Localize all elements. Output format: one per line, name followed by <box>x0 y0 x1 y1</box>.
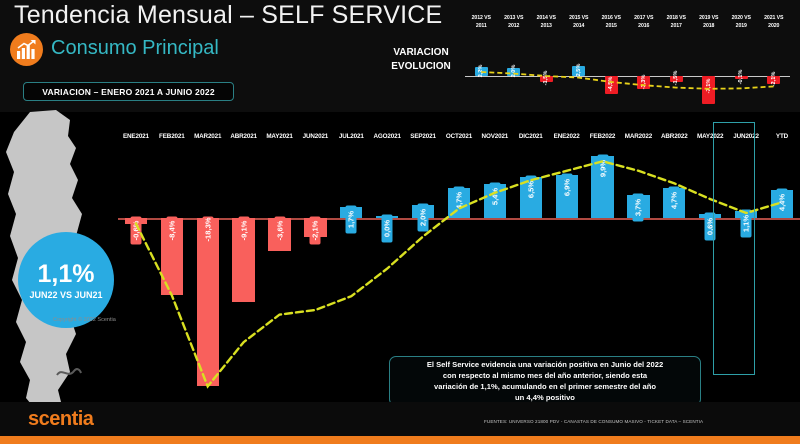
year-pair-label: 2021 VS2020 <box>758 14 791 36</box>
month-label: MAR2022 <box>620 133 656 145</box>
monthly-axis-labels: ENE2021FEB2021MAR2021ABR2021MAY2021JUN20… <box>118 133 800 145</box>
yearly-evolution-chart: 2012 VS20112013 VS20122014 VS20132015 VS… <box>465 14 790 106</box>
month-label: DIC2021 <box>513 133 549 145</box>
bar-value-label: 9,9% <box>597 154 608 182</box>
bar-column[interactable]: 9,9% <box>585 150 621 390</box>
insight-note-box: El Self Service evidencia una variación … <box>389 356 701 406</box>
year-pair-label: 2017 VS2016 <box>628 14 661 36</box>
month-label: ENE2021 <box>118 133 154 145</box>
month-label: ABR2021 <box>226 133 262 145</box>
month-label: FEB2022 <box>585 133 621 145</box>
period-badge: VARIACION – ENERO 2021 A JUNIO 2022 <box>23 82 234 101</box>
bar-value-label: -3,6% <box>274 217 285 245</box>
note-line-2: con respecto al mismo mes del año anteri… <box>443 370 647 381</box>
scentia-logo: scentia <box>28 408 93 431</box>
bar-column[interactable]: 0,0% <box>369 150 405 390</box>
bar-column[interactable]: -0,6% <box>118 150 154 390</box>
yearly-plot-area: 2,2%2,0%-1,5%2,5%-4,5%-3,3%-1,5%-7,1%-0,… <box>465 36 790 106</box>
bar-value-label: -9,1% <box>238 217 249 245</box>
year-pair-label: 2019 VS2018 <box>693 14 726 36</box>
bar-column[interactable]: -9,1% <box>226 150 262 390</box>
bar-value-label: 4,4% <box>777 189 788 217</box>
slide-root: Tendencia Mensual – SELF SERVICE Consumo… <box>0 0 800 444</box>
page-title: Tendencia Mensual – SELF SERVICE <box>14 1 442 30</box>
yearly-trend-line <box>465 36 790 106</box>
kpi-caption: JUN22 VS JUN21 <box>29 290 102 300</box>
bar-column[interactable]: 4,7% <box>441 150 477 390</box>
sources-footnote: FUENTES: UNIVERSO 21800 PDV - CANASTAS D… <box>484 419 703 424</box>
month-label: OCT2021 <box>441 133 477 145</box>
bar-value-label: 4,7% <box>453 187 464 215</box>
month-label: YTD <box>764 133 800 145</box>
bar-value-label: -2,1% <box>310 217 321 245</box>
month-label: ABR2022 <box>656 133 692 145</box>
bar-column[interactable]: 4,4% <box>764 150 800 390</box>
month-label: JUN2021 <box>297 133 333 145</box>
month-label: ENE2022 <box>549 133 585 145</box>
year-pair-label: 2016 VS2015 <box>595 14 628 36</box>
month-label: MAR2021 <box>190 133 226 145</box>
month-label: NOV2021 <box>477 133 513 145</box>
month-label: MAY2021 <box>262 133 298 145</box>
year-pair-label: 2013 VS2012 <box>498 14 531 36</box>
bar-value-label: 2,0% <box>418 204 429 232</box>
month-label: JUL2021 <box>333 133 369 145</box>
bar-chart-growth-icon <box>10 33 43 66</box>
year-pair-label: 2015 VS2014 <box>563 14 596 36</box>
bar-value-label: -8,4% <box>166 217 177 245</box>
highlight-jun2022-box <box>713 122 755 375</box>
bar-value-label: 4,7% <box>669 187 680 215</box>
month-label: FEB2021 <box>154 133 190 145</box>
decorative-swirl-icon <box>56 365 82 379</box>
bar-value-label: 5,4% <box>489 183 500 211</box>
bar-value-label: 6,5% <box>525 176 536 204</box>
month-label: SEP2021 <box>405 133 441 145</box>
note-line-3: variación de 1,1%, acumulando en el prim… <box>434 381 656 392</box>
bar-column[interactable]: -18,3% <box>190 150 226 390</box>
bar-column[interactable]: 3,7% <box>621 150 657 390</box>
footer-accent-bar <box>0 436 800 444</box>
bar-value-label: 0,0% <box>382 215 393 243</box>
bar-value-label: 3,7% <box>633 193 644 221</box>
monthly-trend-chart: -0,6%-8,4%-18,3%-9,1%-3,6%-2,1%1,7%0,0%2… <box>118 150 800 390</box>
month-label: AGO2021 <box>369 133 405 145</box>
bar-column[interactable]: 2,0% <box>405 150 441 390</box>
year-pair-label: 2018 VS2017 <box>660 14 693 36</box>
yearly-axis-labels: 2012 VS20112013 VS20122014 VS20132015 VS… <box>465 14 790 36</box>
bar-value-label: 6,9% <box>561 173 572 201</box>
variacion-label: VARIACION <box>378 46 464 60</box>
bar-column[interactable]: -8,4% <box>154 150 190 390</box>
kpi-value: 1,1% <box>38 261 95 288</box>
year-pair-label: 2012 VS2011 <box>465 14 498 36</box>
evolucion-label: EVOLUCION <box>378 60 464 74</box>
note-line-1: El Self Service evidencia una variación … <box>427 359 663 370</box>
bar-column[interactable]: 1,7% <box>333 150 369 390</box>
bar-column[interactable]: -2,1% <box>297 150 333 390</box>
bar-value-label: 1,7% <box>346 206 357 234</box>
period-badge-label: VARIACION – ENERO 2021 A JUNIO 2022 <box>42 87 215 97</box>
copyright-text: Copyright © 2022 Scentia <box>53 317 116 323</box>
variacion-evolucion-label: VARIACION EVOLUCION <box>378 46 464 74</box>
bar-value-label: -18,3% <box>202 217 213 245</box>
year-pair-label: 2014 VS2013 <box>530 14 563 36</box>
kpi-circle: 1,1% JUN22 VS JUN21 <box>18 232 114 328</box>
page-subtitle: Consumo Principal <box>51 37 219 60</box>
bar-column[interactable]: 6,9% <box>549 150 585 390</box>
bar-column[interactable]: 5,4% <box>477 150 513 390</box>
bar-column[interactable]: 6,5% <box>513 150 549 390</box>
bar-value-label: -0,6% <box>130 217 141 245</box>
bar-column[interactable]: -3,6% <box>262 150 298 390</box>
year-pair-label: 2020 VS2019 <box>725 14 758 36</box>
bar-column[interactable]: 4,7% <box>656 150 692 390</box>
